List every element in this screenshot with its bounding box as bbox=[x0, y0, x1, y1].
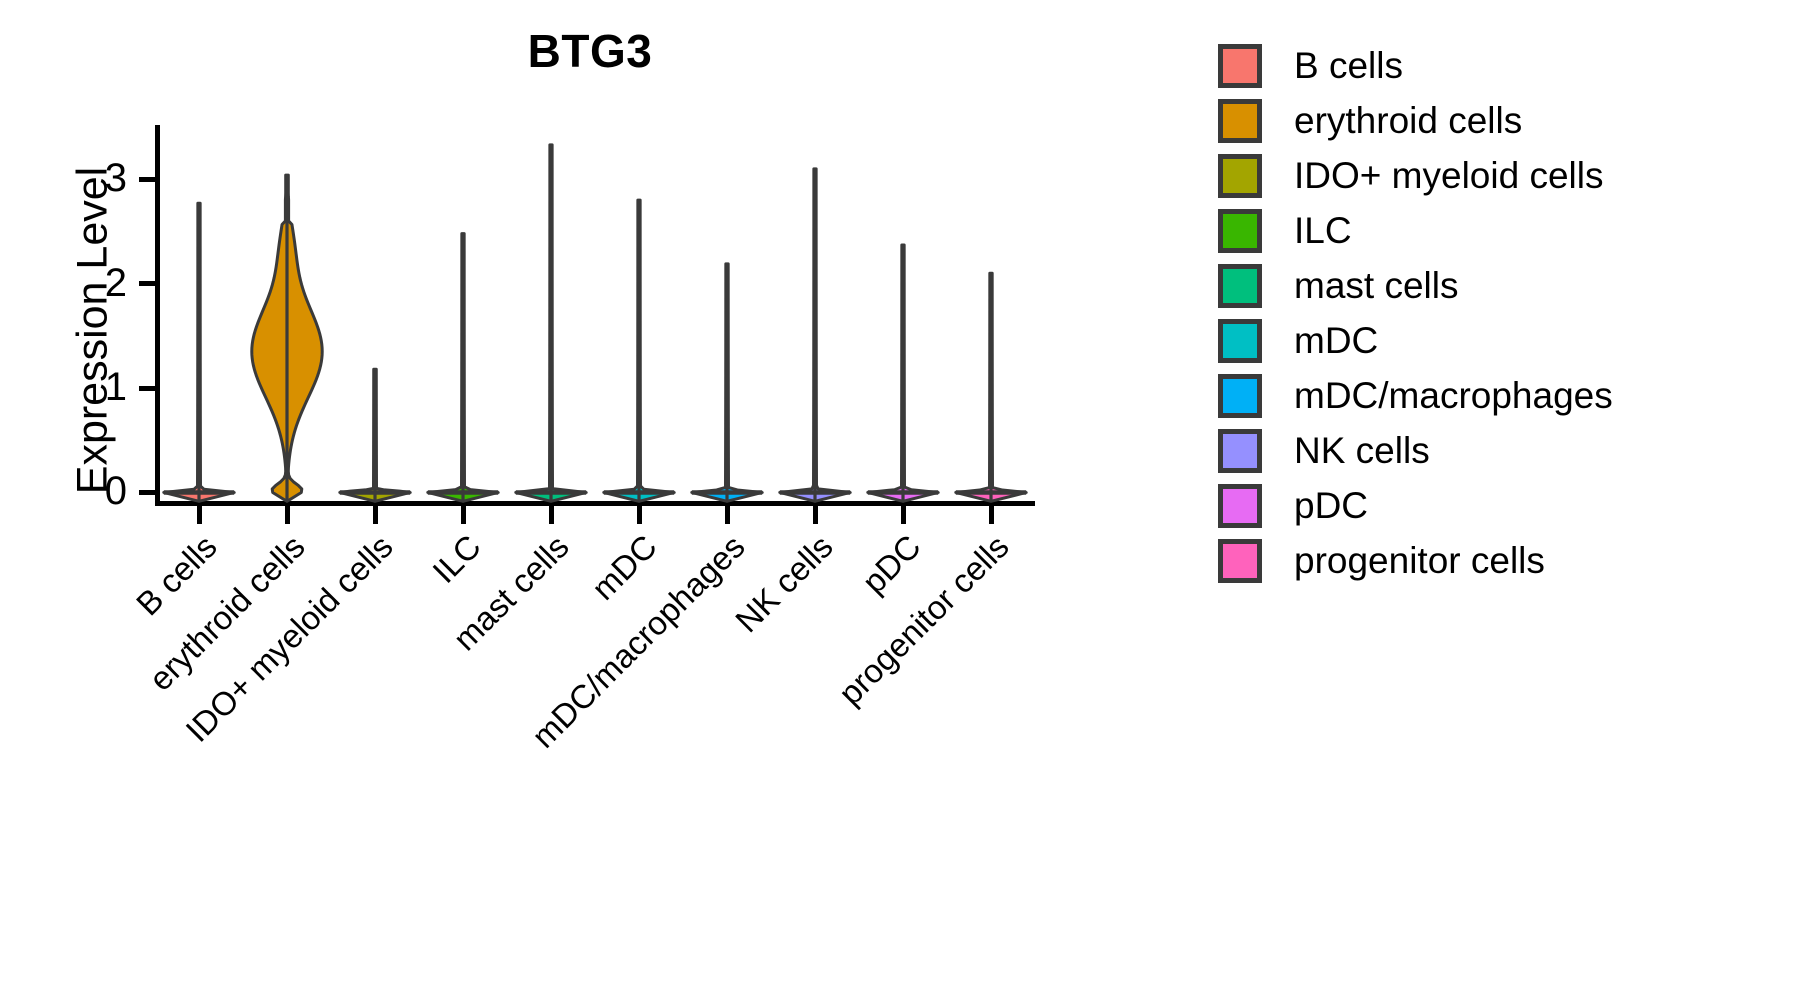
violin-nk-cells[interactable] bbox=[780, 169, 850, 502]
legend-color-swatch bbox=[1218, 209, 1262, 253]
x-axis-tick bbox=[989, 506, 994, 524]
x-axis-tick bbox=[461, 506, 466, 524]
legend-item-label: NK cells bbox=[1294, 432, 1430, 469]
plot-panel: 0123 bbox=[155, 125, 1035, 505]
legend-item-progenitor-cells[interactable]: progenitor cells bbox=[1218, 533, 1758, 588]
violin-mdc-macrophages[interactable] bbox=[692, 264, 762, 502]
violin-pdc[interactable] bbox=[868, 245, 938, 501]
legend-item-erythroid-cells[interactable]: erythroid cells bbox=[1218, 93, 1758, 148]
legend-item-label: mast cells bbox=[1294, 267, 1458, 304]
legend-item-label: IDO+ myeloid cells bbox=[1294, 157, 1603, 194]
legend-item-label: B cells bbox=[1294, 47, 1403, 84]
violin-mdc[interactable] bbox=[604, 200, 674, 501]
legend-item-label: pDC bbox=[1294, 487, 1368, 524]
legend-item-pdc[interactable]: pDC bbox=[1218, 478, 1758, 533]
y-axis-tick-label: 1 bbox=[67, 367, 127, 407]
legend-item-mdc[interactable]: mDC bbox=[1218, 313, 1758, 368]
legend-item-mast-cells[interactable]: mast cells bbox=[1218, 258, 1758, 313]
x-axis-tick bbox=[549, 506, 554, 524]
y-axis-tick-label: 2 bbox=[67, 263, 127, 303]
legend-color-swatch bbox=[1218, 319, 1262, 363]
x-axis-tick bbox=[725, 506, 730, 524]
violin-erythroid-cells[interactable] bbox=[252, 175, 322, 501]
x-axis-tick bbox=[197, 506, 202, 524]
legend-color-swatch bbox=[1218, 99, 1262, 143]
x-axis-tick bbox=[285, 506, 290, 524]
y-axis-tick bbox=[139, 281, 155, 286]
legend-item-label: erythroid cells bbox=[1294, 102, 1522, 139]
legend-item-b-cells[interactable]: B cells bbox=[1218, 38, 1758, 93]
legend-item-label: mDC bbox=[1294, 322, 1378, 359]
x-axis-tick bbox=[637, 506, 642, 524]
legend-item-nk-cells[interactable]: NK cells bbox=[1218, 423, 1758, 478]
y-axis-tick-label: 0 bbox=[67, 471, 127, 511]
violin-series-group bbox=[155, 125, 1035, 505]
legend: B cellserythroid cellsIDO+ myeloid cells… bbox=[1218, 38, 1758, 588]
x-axis-tick bbox=[901, 506, 906, 524]
violin-progenitor-cells[interactable] bbox=[956, 273, 1026, 501]
violin-mast-cells[interactable] bbox=[516, 145, 586, 502]
legend-color-swatch bbox=[1218, 484, 1262, 528]
violin-b-cells[interactable] bbox=[164, 203, 234, 501]
violin-ido-myeloid-cells[interactable] bbox=[340, 369, 410, 501]
legend-item-mdc-macrophages[interactable]: mDC/macrophages bbox=[1218, 368, 1758, 423]
legend-color-swatch bbox=[1218, 154, 1262, 198]
violin-ilc[interactable] bbox=[428, 234, 498, 502]
y-axis-tick bbox=[139, 490, 155, 495]
y-axis-tick bbox=[139, 177, 155, 182]
x-axis-tick bbox=[373, 506, 378, 524]
legend-color-swatch bbox=[1218, 44, 1262, 88]
x-axis-tick bbox=[813, 506, 818, 524]
legend-color-swatch bbox=[1218, 539, 1262, 583]
legend-item-ido-myeloid-cells[interactable]: IDO+ myeloid cells bbox=[1218, 148, 1758, 203]
legend-color-swatch bbox=[1218, 429, 1262, 473]
y-axis-tick-label: 3 bbox=[67, 158, 127, 198]
legend-color-swatch bbox=[1218, 374, 1262, 418]
y-axis-tick bbox=[139, 386, 155, 391]
legend-item-ilc[interactable]: ILC bbox=[1218, 203, 1758, 258]
legend-item-label: mDC/macrophages bbox=[1294, 377, 1613, 414]
legend-item-label: progenitor cells bbox=[1294, 542, 1545, 579]
legend-color-swatch bbox=[1218, 264, 1262, 308]
legend-item-label: ILC bbox=[1294, 212, 1352, 249]
violin-plot-figure: BTG3 Expression Level 0123 B cellserythr… bbox=[0, 0, 1795, 1002]
page-title: BTG3 bbox=[150, 28, 1030, 74]
